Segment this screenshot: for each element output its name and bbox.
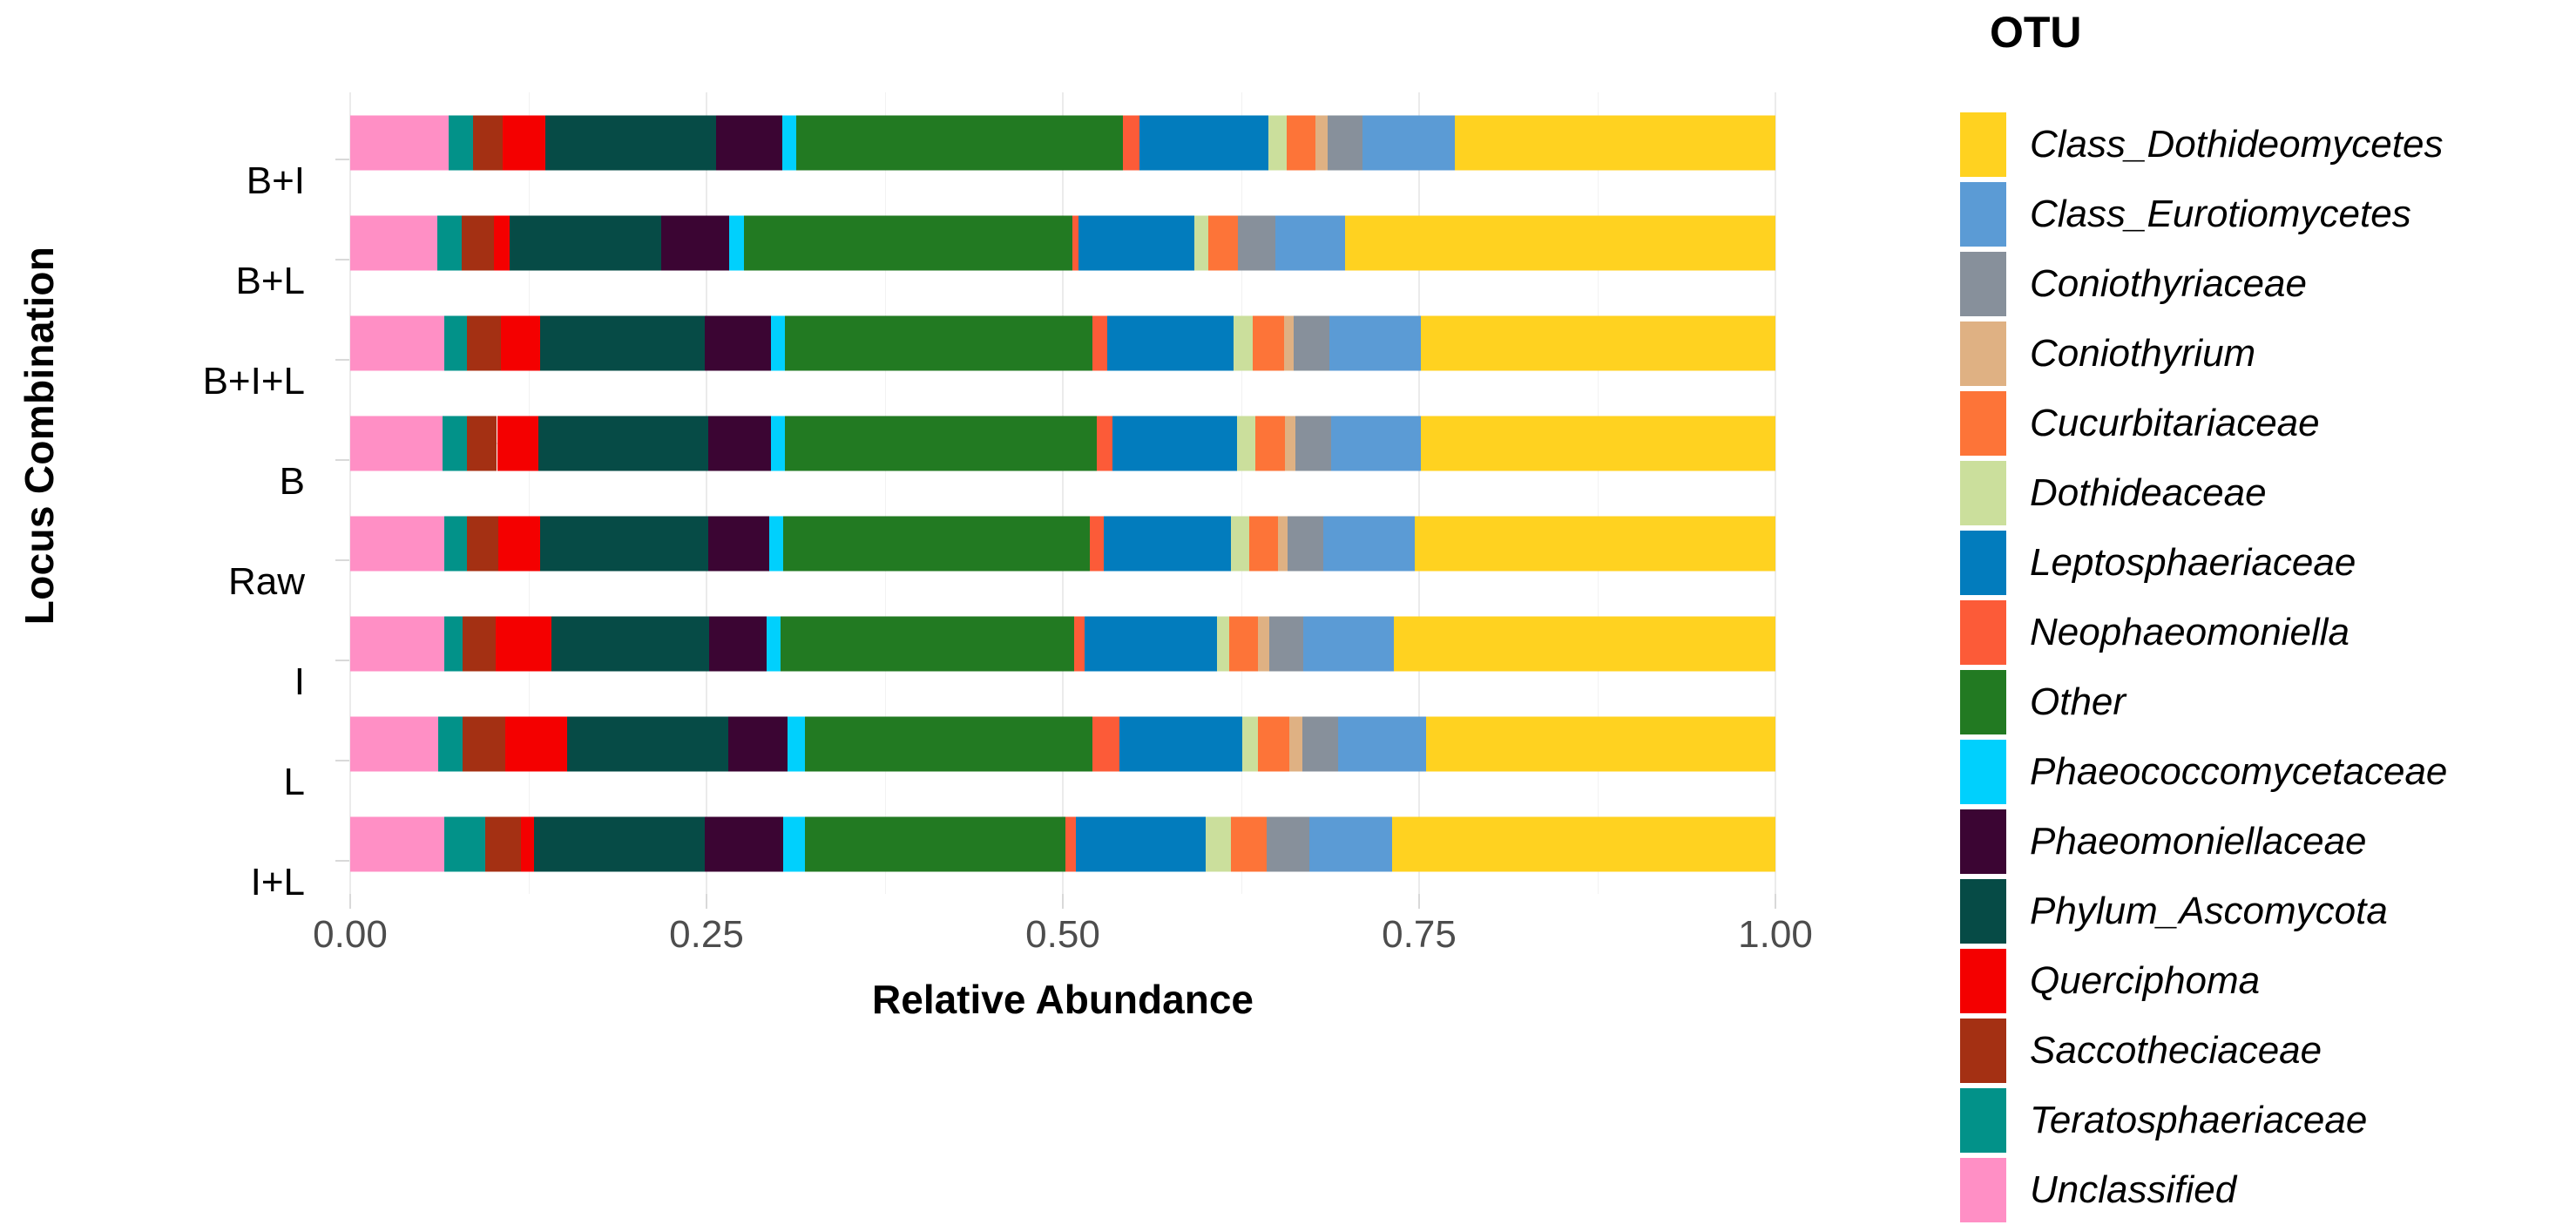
bar-segment[interactable] (782, 115, 796, 170)
x-axis-tick-mark (706, 894, 707, 909)
legend-item[interactable]: Class_Dothideomycetes (1960, 110, 2570, 179)
bar-segment[interactable] (1217, 616, 1230, 671)
bar-segment[interactable] (1285, 416, 1295, 470)
bar-segment[interactable] (785, 315, 1092, 370)
bar-segment[interactable] (1394, 616, 1775, 671)
bar-segment[interactable] (1092, 315, 1106, 370)
bar-segment[interactable] (1267, 816, 1309, 871)
x-axis-tick-mark (1062, 894, 1064, 909)
y-axis-tick-mark (335, 860, 350, 862)
bar-segment[interactable] (744, 215, 1073, 270)
legend-item-label: Cucurbitariaceae (2030, 402, 2320, 445)
y-axis-tick-mark (335, 660, 350, 661)
legend-swatch (1960, 949, 2006, 1013)
legend-swatch (1960, 600, 2006, 665)
bar-segment[interactable] (545, 115, 716, 170)
bar-segment[interactable] (497, 416, 538, 470)
bar-row[interactable] (350, 516, 1775, 571)
legend-swatch (1960, 112, 2006, 177)
bar-segment[interactable] (783, 516, 1090, 571)
gridline-major-vertical (349, 92, 351, 894)
gridline-minor-vertical (1241, 92, 1242, 894)
bar-segment[interactable] (1097, 416, 1112, 470)
legend-item[interactable]: Phylum_Ascomycota (1960, 876, 2570, 946)
gridline-minor-vertical (529, 92, 530, 894)
legend-item[interactable]: Querciphoma (1960, 946, 2570, 1016)
bar-segment[interactable] (1119, 716, 1242, 771)
bar-segment[interactable] (1139, 115, 1268, 170)
bar-segment[interactable] (449, 115, 473, 170)
legend-item-label: Phaeomoniellaceae (2030, 820, 2367, 863)
bar-segment[interactable] (1338, 716, 1426, 771)
bar-segment[interactable] (498, 516, 539, 571)
x-axis-tick-label: 0.50 (1025, 913, 1100, 957)
bar-segment[interactable] (1231, 516, 1249, 571)
bar-segment[interactable] (538, 416, 708, 470)
bar-segment[interactable] (796, 115, 1123, 170)
bar-segment[interactable] (1253, 315, 1284, 370)
legend-item-label: Coniothyriaceae (2030, 262, 2307, 306)
legend-swatch (1960, 531, 2006, 595)
legend-item-label: Phylum_Ascomycota (2030, 890, 2388, 933)
bar-segment[interactable] (350, 716, 438, 771)
legend-item-label: Neophaeomoniella (2030, 611, 2350, 654)
bar-segment[interactable] (510, 215, 660, 270)
bar-segment[interactable] (709, 616, 766, 671)
y-axis-tick-mark (335, 159, 350, 160)
bar-segment[interactable] (1287, 115, 1315, 170)
legend: OTU Class_DothideomycetesClass_Eurotiomy… (1950, 0, 2576, 1188)
bar-segment[interactable] (501, 315, 539, 370)
bar-row[interactable] (350, 616, 1775, 671)
bar-segment[interactable] (1206, 816, 1231, 871)
legend-item[interactable]: Coniothyrium (1960, 319, 2570, 389)
bar-segment[interactable] (1076, 816, 1206, 871)
legend-item-label: Querciphoma (2030, 959, 2260, 1003)
bar-segment[interactable] (1421, 416, 1775, 470)
bar-segment[interactable] (1345, 215, 1775, 270)
legend-swatch (1960, 391, 2006, 456)
bar-segment[interactable] (1289, 716, 1302, 771)
bar-segment[interactable] (1288, 516, 1323, 571)
plot-panel (350, 92, 1775, 894)
bar-segment[interactable] (1242, 716, 1258, 771)
x-axis-tick-label: 0.75 (1382, 913, 1457, 957)
legend-item-label: Teratosphaeriaceae (2030, 1099, 2367, 1142)
bar-segment[interactable] (661, 215, 730, 270)
legend-title: OTU (1990, 7, 2082, 58)
bar-segment[interactable] (1208, 215, 1238, 270)
bar-segment[interactable] (1249, 516, 1278, 571)
bar-segment[interactable] (467, 416, 497, 470)
legend-item-label: Other (2030, 680, 2126, 724)
bar-segment[interactable] (494, 215, 510, 270)
legend-item-label: Leptosphaeriaceae (2030, 541, 2356, 585)
bar-segment[interactable] (1229, 616, 1258, 671)
bar-segment[interactable] (443, 416, 467, 470)
bar-segment[interactable] (1323, 516, 1415, 571)
y-axis-tick-labels: B+IB+LB+I+LBRawILI+L (83, 109, 305, 893)
bar-segment[interactable] (729, 215, 743, 270)
bar-segment[interactable] (350, 315, 444, 370)
bar-segment[interactable] (505, 716, 566, 771)
legend-item-label: Coniothyrium (2030, 332, 2255, 376)
bar-segment[interactable] (350, 816, 444, 871)
gridline-major-vertical (706, 92, 707, 894)
bar-segment[interactable] (1255, 416, 1285, 470)
bar-segment[interactable] (534, 816, 705, 871)
bar-segment[interactable] (1092, 716, 1119, 771)
bar-segment[interactable] (350, 516, 444, 571)
legend-swatch (1960, 461, 2006, 525)
bar-segment[interactable] (473, 115, 503, 170)
bar-segment[interactable] (350, 215, 437, 270)
y-axis-title: Locus Combination (0, 0, 78, 871)
legend-items: Class_DothideomycetesClass_Eurotiomycete… (1960, 110, 2570, 1225)
bar-segment[interactable] (1104, 516, 1231, 571)
x-axis-title: Relative Abundance (350, 976, 1775, 1023)
legend-item[interactable]: Coniothyriaceae (1960, 249, 2570, 319)
bar-segment[interactable] (1237, 416, 1255, 470)
bar-segment[interactable] (1315, 115, 1329, 170)
bar-segment[interactable] (444, 616, 463, 671)
legend-item[interactable]: Other (1960, 667, 2570, 737)
bar-segment[interactable] (1268, 115, 1287, 170)
bar-row[interactable] (350, 115, 1775, 170)
bar-segment[interactable] (1258, 616, 1269, 671)
bar-segment[interactable] (567, 716, 728, 771)
bar-segment[interactable] (771, 315, 785, 370)
y-axis-title-text: Locus Combination (16, 247, 63, 625)
legend-swatch (1960, 740, 2006, 804)
gridline-minor-vertical (885, 92, 886, 894)
bar-segment[interactable] (783, 816, 805, 871)
bar-row[interactable] (350, 215, 1775, 270)
gridline-major-vertical (1418, 92, 1420, 894)
bar-segment[interactable] (1302, 716, 1338, 771)
bar-segment[interactable] (1072, 215, 1078, 270)
bar-segment[interactable] (1278, 516, 1288, 571)
bar-segment[interactable] (781, 616, 1074, 671)
bar-segment[interactable] (805, 716, 1092, 771)
y-axis-tick-mark (335, 459, 350, 461)
x-axis-tick-mark (1418, 894, 1420, 909)
bar-segment[interactable] (1258, 716, 1289, 771)
x-axis-tick-label: 0.00 (313, 913, 388, 957)
bar-segment[interactable] (350, 115, 449, 170)
bar-segment[interactable] (438, 716, 463, 771)
stacked-bar-chart-figure: Locus Combination B+IB+LB+I+LBRawILI+L 0… (0, 0, 2576, 1188)
bar-segment[interactable] (1238, 215, 1275, 270)
legend-swatch (1960, 1158, 2006, 1222)
legend-item-label: Dothideaceae (2030, 471, 2267, 515)
y-axis-tick-mark (335, 559, 350, 561)
bar-row[interactable] (350, 816, 1775, 871)
y-axis-tick-mark (335, 760, 350, 761)
bar-segment[interactable] (788, 716, 805, 771)
legend-item[interactable]: Saccotheciaceae (1960, 1016, 2570, 1086)
bar-segment[interactable] (521, 816, 534, 871)
bar-segment[interactable] (705, 315, 770, 370)
bar-segment[interactable] (1284, 315, 1294, 370)
legend-item-label: Phaeococcomycetaceae (2030, 750, 2447, 794)
bar-segment[interactable] (1329, 315, 1421, 370)
bar-segment[interactable] (1421, 315, 1775, 370)
bar-segment[interactable] (444, 816, 485, 871)
bar-segment[interactable] (463, 616, 496, 671)
bar-segment[interactable] (1085, 616, 1217, 671)
legend-item-label: Class_Dothideomycetes (2030, 123, 2443, 166)
bar-segment[interactable] (1309, 816, 1392, 871)
bar-segment[interactable] (551, 616, 710, 671)
legend-item-label: Class_Eurotiomycetes (2030, 193, 2411, 236)
bar-segment[interactable] (444, 315, 467, 370)
legend-swatch (1960, 1088, 2006, 1153)
y-axis-tick-mark (335, 259, 350, 261)
x-axis-tick-label: 0.25 (669, 913, 744, 957)
bar-segment[interactable] (1065, 816, 1075, 871)
bar-segment[interactable] (805, 816, 1065, 871)
bar-segment[interactable] (716, 115, 781, 170)
x-axis-tick-labels: 0.000.250.500.751.00 (350, 894, 1775, 955)
bar-segment[interactable] (1303, 616, 1393, 671)
bar-segment[interactable] (1269, 616, 1303, 671)
bar-segment[interactable] (462, 215, 495, 270)
bar-segment[interactable] (1426, 716, 1775, 771)
bar-segment[interactable] (463, 716, 505, 771)
bar-segment[interactable] (1331, 416, 1421, 470)
bar-segment[interactable] (1194, 215, 1208, 270)
bar-segment[interactable] (467, 315, 501, 370)
bar-segment[interactable] (1362, 115, 1455, 170)
bar-segment[interactable] (1328, 115, 1362, 170)
bar-segment[interactable] (1078, 215, 1194, 270)
bar-segment[interactable] (1090, 516, 1104, 571)
bar-segment[interactable] (496, 616, 551, 671)
gridline-major-vertical (1775, 92, 1776, 894)
bar-segment[interactable] (1234, 315, 1252, 370)
legend-item[interactable]: Phaeomoniellaceae (1960, 807, 2570, 876)
legend-item-label: Saccotheciaceae (2030, 1029, 2322, 1073)
bar-segment[interactable] (767, 616, 781, 671)
bar-segment[interactable] (1415, 516, 1775, 571)
gridline-minor-vertical (1598, 92, 1599, 894)
bar-segment[interactable] (1392, 816, 1775, 871)
bar-row[interactable] (350, 416, 1775, 470)
x-axis-tick-mark (349, 894, 351, 909)
legend-item[interactable]: Cucurbitariaceae (1960, 389, 2570, 458)
bar-segment[interactable] (540, 516, 708, 571)
bar-segment[interactable] (728, 716, 788, 771)
gridline-major-vertical (1062, 92, 1064, 894)
legend-item[interactable]: Class_Eurotiomycetes (1960, 179, 2570, 249)
legend-swatch (1960, 1019, 2006, 1083)
legend-swatch (1960, 182, 2006, 247)
bar-segment[interactable] (503, 115, 545, 170)
bar-segment[interactable] (350, 416, 443, 470)
legend-swatch (1960, 252, 2006, 316)
legend-item[interactable]: Dothideaceae (1960, 458, 2570, 528)
bar-row[interactable] (350, 716, 1775, 771)
bar-segment[interactable] (485, 816, 521, 871)
bar-segment[interactable] (1294, 315, 1329, 370)
bar-segment[interactable] (1231, 816, 1267, 871)
bar-segment[interactable] (1107, 315, 1234, 370)
bar-segment[interactable] (1455, 115, 1775, 170)
legend-item[interactable]: Phaeococcomycetaceae (1960, 737, 2570, 807)
bar-segment[interactable] (771, 416, 785, 470)
bar-segment[interactable] (708, 416, 771, 470)
bar-segment[interactable] (1074, 616, 1084, 671)
bar-segment[interactable] (1295, 416, 1331, 470)
legend-swatch (1960, 879, 2006, 944)
bar-segment[interactable] (705, 816, 783, 871)
bar-segment[interactable] (437, 215, 462, 270)
x-axis-tick-mark (1775, 894, 1776, 909)
bar-segment[interactable] (540, 315, 706, 370)
x-axis-tick-label: 1.00 (1738, 913, 1813, 957)
legend-item[interactable]: Leptosphaeriaceae (1960, 528, 2570, 598)
bar-segment[interactable] (769, 516, 783, 571)
legend-swatch (1960, 321, 2006, 386)
legend-swatch (1960, 670, 2006, 734)
legend-swatch (1960, 809, 2006, 874)
y-axis-tick-mark (335, 359, 350, 361)
bar-row[interactable] (350, 315, 1775, 370)
bar-segment[interactable] (785, 416, 1097, 470)
legend-item[interactable]: Unclassified (1960, 1155, 2570, 1225)
bar-segment[interactable] (1112, 416, 1236, 470)
bar-segment[interactable] (1275, 215, 1345, 270)
bar-segment[interactable] (444, 516, 467, 571)
legend-item[interactable]: Teratosphaeriaceae (1960, 1086, 2570, 1155)
bar-segment[interactable] (350, 616, 444, 671)
legend-item[interactable]: Neophaeomoniella (1960, 598, 2570, 667)
bar-segment[interactable] (467, 516, 498, 571)
bar-segment[interactable] (1123, 115, 1140, 170)
legend-item-label: Unclassified (2030, 1168, 2236, 1212)
bar-segment[interactable] (708, 516, 769, 571)
